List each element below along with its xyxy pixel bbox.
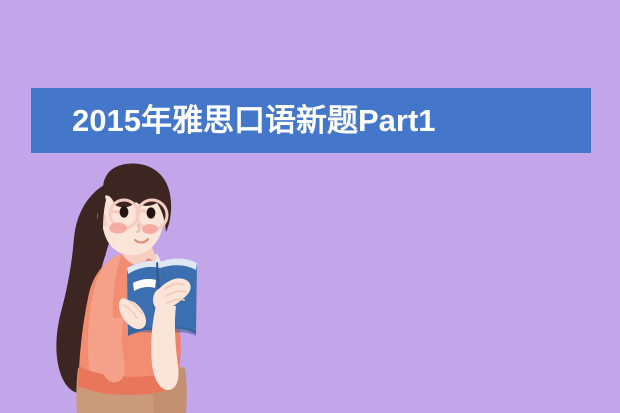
left-cheek-blush xyxy=(109,223,127,234)
glasses-temple xyxy=(110,212,120,214)
right-forearm xyxy=(151,306,178,390)
title-banner: 2015年雅思口语新题Part1 xyxy=(31,88,591,153)
left-eye xyxy=(120,206,129,217)
poster-title: 2015年雅思口语新题Part1 xyxy=(72,105,436,136)
right-cheek-blush xyxy=(142,224,158,234)
woman-reading-book-illustration xyxy=(0,0,620,413)
left-sleeve xyxy=(100,318,125,382)
right-eye xyxy=(147,207,156,218)
poster-canvas: 2015年雅思口语新题Part1 xyxy=(0,0,620,413)
